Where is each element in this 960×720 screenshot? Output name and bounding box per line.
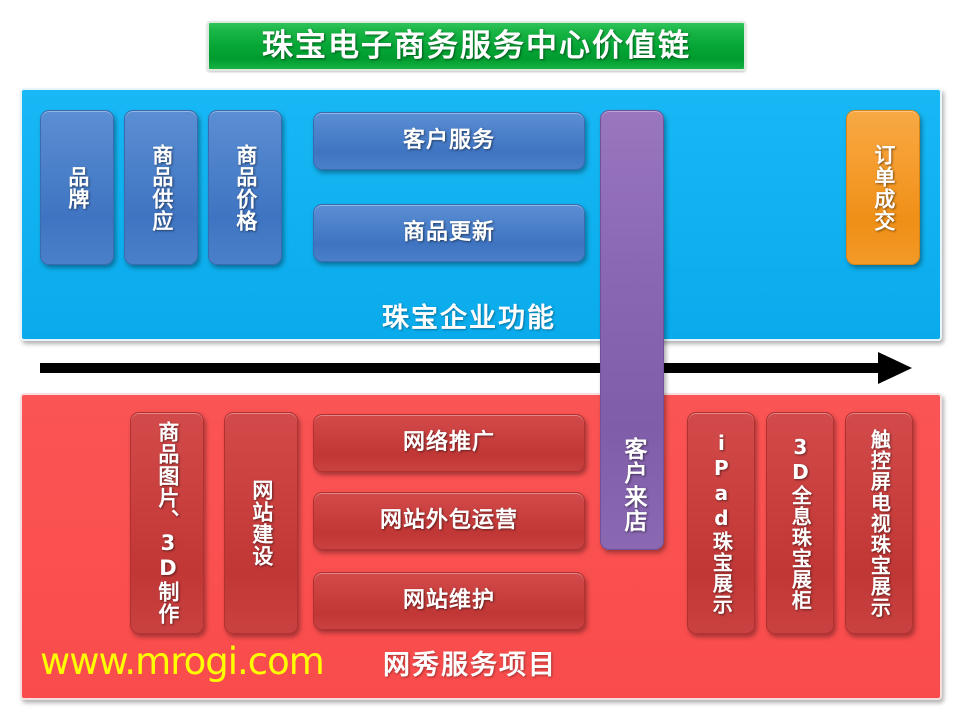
node-network-promotion[interactable]: 网络推广: [313, 414, 585, 472]
diagram-canvas: 珠宝电子商务服务中心价值链 品牌 商品供应 商品价格 客户服务 商品更新 订单成…: [0, 0, 960, 720]
service-projects-caption: 网秀服务项目: [383, 643, 557, 682]
node-product-price-label: 商品价格: [234, 144, 256, 232]
node-product-photo-3d[interactable]: 商品图片、3D制作: [130, 412, 204, 634]
node-website-outsourcing-label: 网站外包运营: [380, 510, 518, 532]
node-website-outsourcing[interactable]: 网站外包运营: [313, 492, 585, 550]
node-touchscreen-tv-display-label: 触控屏电视珠宝展示: [869, 429, 890, 618]
node-customer-visit-label: 客户来店: [620, 437, 644, 533]
enterprise-functions-caption: 珠宝企业功能: [382, 296, 556, 335]
node-brand-label: 品牌: [66, 166, 88, 210]
node-website-construction-label: 网站建设: [250, 479, 272, 567]
node-customer-service[interactable]: 客户服务: [313, 112, 585, 170]
node-product-price[interactable]: 商品价格: [208, 110, 282, 265]
node-3d-hologram-cabinet-label: 3D全息珠宝展柜: [790, 435, 811, 611]
arrow-head-icon: [878, 352, 912, 384]
node-product-photo-3d-label: 商品图片、3D制作: [156, 421, 178, 625]
node-customer-visit[interactable]: 客户来店: [600, 110, 664, 550]
node-product-update[interactable]: 商品更新: [313, 204, 585, 262]
node-product-supply-label: 商品供应: [150, 144, 172, 232]
node-ipad-jewelry-display-label: iPad珠宝展示: [711, 431, 732, 615]
page-title: 珠宝电子商务服务中心价值链: [262, 31, 691, 62]
node-website-maintenance[interactable]: 网站维护: [313, 572, 585, 630]
node-website-construction[interactable]: 网站建设: [224, 412, 298, 634]
node-ipad-jewelry-display[interactable]: iPad珠宝展示: [687, 412, 755, 634]
node-product-supply[interactable]: 商品供应: [124, 110, 198, 265]
node-product-update-label: 商品更新: [403, 222, 495, 244]
arrow-line: [40, 363, 880, 373]
node-customer-service-label: 客户服务: [403, 130, 495, 152]
site-watermark: www.mrogi.com: [40, 640, 324, 683]
node-3d-hologram-cabinet[interactable]: 3D全息珠宝展柜: [766, 412, 834, 634]
value-flow-arrow: [40, 352, 912, 384]
node-order-closed-label: 订单成交: [872, 144, 894, 232]
node-network-promotion-label: 网络推广: [403, 432, 495, 454]
diagram-title-banner: 珠宝电子商务服务中心价值链: [207, 21, 746, 71]
node-touchscreen-tv-display[interactable]: 触控屏电视珠宝展示: [845, 412, 913, 634]
node-brand[interactable]: 品牌: [40, 110, 114, 265]
node-order-closed[interactable]: 订单成交: [846, 110, 920, 265]
node-website-maintenance-label: 网站维护: [403, 590, 495, 612]
